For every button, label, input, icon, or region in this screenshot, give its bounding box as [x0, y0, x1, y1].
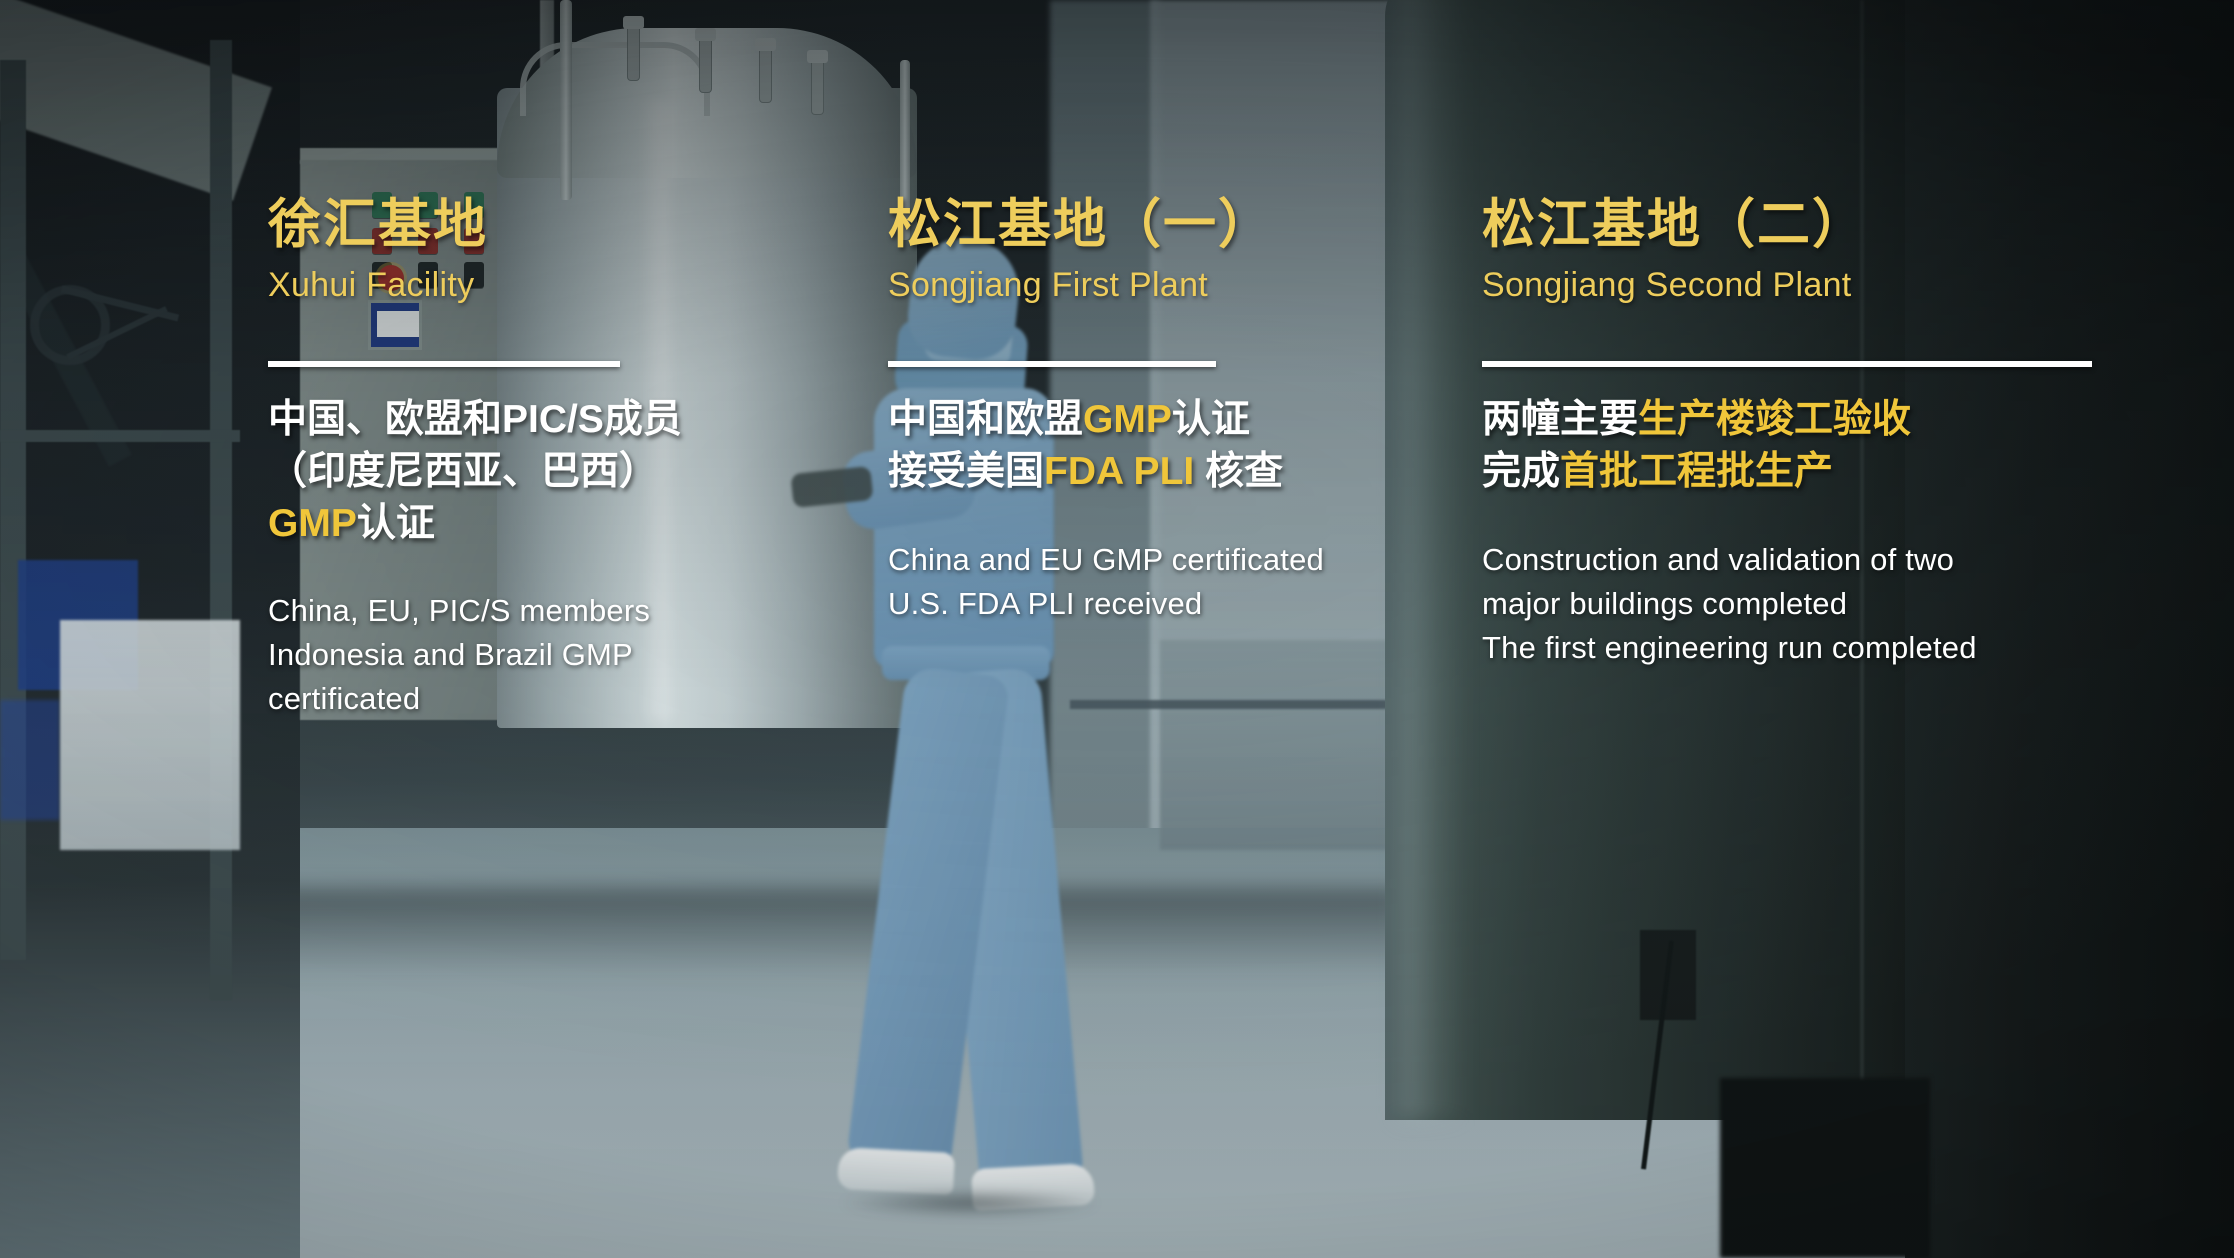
text-line: China and EU GMP certificated — [888, 538, 1388, 582]
highlight-text: GMP — [1083, 398, 1172, 441]
column-body-en: China, EU, PIC/S membersIndonesia and Br… — [268, 589, 738, 721]
column-body-en: Construction and validation of twomajor … — [1482, 538, 2122, 670]
text-line: （印度尼西亚、巴西） — [268, 446, 738, 498]
column-body-cn: 两幢主要生产楼竣工验收完成首批工程批生产 — [1482, 394, 2122, 498]
text-line: Indonesia and Brazil GMP — [268, 633, 738, 677]
column-body-cn: 中国、欧盟和PIC/S成员（印度尼西亚、巴西）GMP认证 — [268, 394, 738, 550]
text-line: 中国、欧盟和PIC/S成员 — [268, 394, 738, 446]
text-line: 接受美国FDA PLI 核查 — [888, 446, 1388, 498]
highlight-text: 首批工程批生产 — [1560, 450, 1833, 493]
plain-text: 完成 — [1482, 450, 1560, 493]
facility-column-xuhui: 徐汇基地 Xuhui Facility 中国、欧盟和PIC/S成员（印度尼西亚、… — [268, 195, 738, 721]
facility-column-songjiang-second: 松江基地（二） Songjiang Second Plant 两幢主要生产楼竣工… — [1482, 195, 2122, 670]
plain-text: 中国、欧盟和PIC/S成员 — [268, 398, 682, 441]
text-line: 中国和欧盟GMP认证 — [888, 394, 1388, 446]
highlight-text: 生产楼竣工验收 — [1638, 398, 1911, 441]
column-title-en: Xuhui Facility — [268, 264, 738, 307]
column-body-en: China and EU GMP certificatedU.S. FDA PL… — [888, 538, 1388, 626]
plain-text: 核查 — [1194, 450, 1283, 493]
text-line: major buildings completed — [1482, 582, 2122, 626]
plain-text: 两幢主要 — [1482, 398, 1638, 441]
text-line: Construction and validation of two — [1482, 538, 2122, 582]
plain-text: 中国和欧盟 — [888, 398, 1083, 441]
slide-content: 徐汇基地 Xuhui Facility 中国、欧盟和PIC/S成员（印度尼西亚、… — [0, 0, 2234, 1258]
column-divider — [1482, 361, 2092, 367]
plain-text: 认证 — [357, 502, 435, 545]
plain-text: （印度尼西亚、巴西） — [268, 450, 658, 493]
column-divider — [268, 361, 620, 367]
column-title-cn: 徐汇基地 — [268, 195, 738, 254]
text-line: certificated — [268, 677, 738, 721]
plain-text: 认证 — [1172, 398, 1250, 441]
column-title-en: Songjiang Second Plant — [1482, 264, 2122, 307]
highlight-text: GMP — [268, 502, 357, 545]
facility-column-songjiang-first: 松江基地（一） Songjiang First Plant 中国和欧盟GMP认证… — [888, 195, 1388, 626]
text-line: GMP认证 — [268, 498, 738, 550]
text-line: 完成首批工程批生产 — [1482, 446, 2122, 498]
slide-stage: 徐汇基地 Xuhui Facility 中国、欧盟和PIC/S成员（印度尼西亚、… — [0, 0, 2234, 1258]
column-title-cn: 松江基地（二） — [1482, 195, 2122, 254]
column-body-cn: 中国和欧盟GMP认证接受美国FDA PLI 核查 — [888, 394, 1388, 498]
highlight-text: FDA PLI — [1044, 450, 1194, 493]
plain-text: 接受美国 — [888, 450, 1044, 493]
column-title-en: Songjiang First Plant — [888, 264, 1388, 307]
column-title-cn: 松江基地（一） — [888, 195, 1388, 254]
text-line: U.S. FDA PLI received — [888, 582, 1388, 626]
column-divider — [888, 361, 1216, 367]
text-line: 两幢主要生产楼竣工验收 — [1482, 394, 2122, 446]
text-line: China, EU, PIC/S members — [268, 589, 738, 633]
text-line: The first engineering run completed — [1482, 626, 2122, 670]
